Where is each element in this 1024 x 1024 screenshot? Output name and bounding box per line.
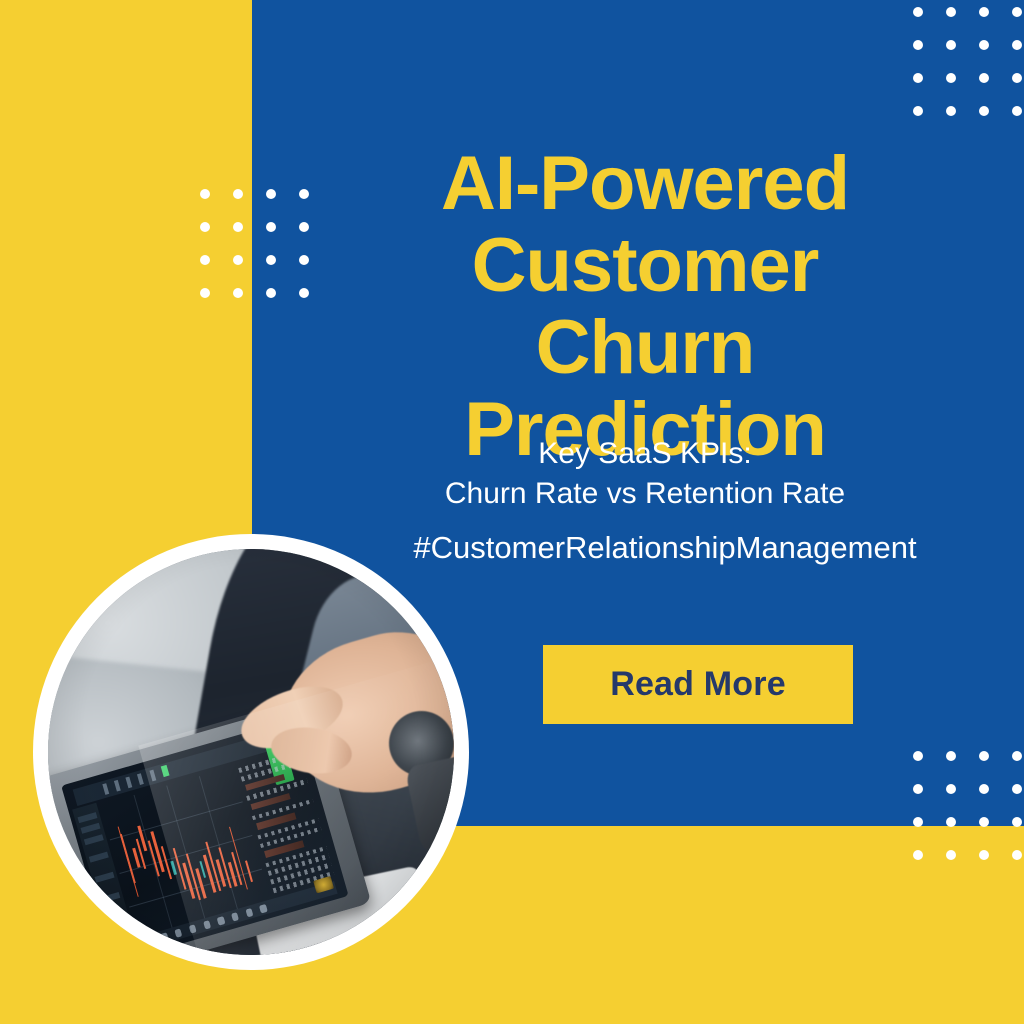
circular-photo-frame — [33, 534, 469, 970]
bottom-right-dot-grid — [913, 751, 1022, 860]
dot — [979, 7, 989, 17]
dot — [1012, 7, 1022, 17]
headline: AI-Powered Customer Churn Prediction — [300, 143, 990, 471]
dot — [913, 7, 923, 17]
dot — [979, 40, 989, 50]
dot — [946, 40, 956, 50]
dot — [979, 784, 989, 794]
read-more-button[interactable]: Read More — [543, 645, 853, 724]
hashtag: #CustomerRelationshipManagement — [300, 528, 1024, 568]
panel-row — [81, 823, 101, 834]
dot — [266, 189, 276, 199]
panel-row — [100, 892, 120, 903]
top-right-dot-grid — [913, 7, 1022, 116]
dot — [913, 751, 923, 761]
dot — [979, 73, 989, 83]
panel-row — [95, 872, 115, 883]
dot — [233, 189, 243, 199]
dot — [1012, 40, 1022, 50]
social-media-graphic: AI-Powered Customer Churn Prediction Key… — [0, 0, 1024, 1024]
panel-row — [84, 834, 104, 845]
dot — [979, 751, 989, 761]
dot — [266, 255, 276, 265]
dot — [979, 817, 989, 827]
subtitle: Key SaaS KPIs: Churn Rate vs Retention R… — [300, 434, 990, 514]
dot — [913, 106, 923, 116]
dot — [200, 255, 210, 265]
dot — [946, 817, 956, 827]
dot — [233, 288, 243, 298]
subtitle-line-2: Churn Rate vs Retention Rate — [300, 474, 990, 514]
dot — [1012, 850, 1022, 860]
dot — [1012, 73, 1022, 83]
left-dot-grid — [200, 189, 309, 298]
headline-line-3: Churn — [300, 307, 990, 389]
dot — [946, 850, 956, 860]
dot — [1012, 784, 1022, 794]
dot — [266, 288, 276, 298]
dot — [913, 40, 923, 50]
dot — [233, 222, 243, 232]
dot — [946, 7, 956, 17]
circular-photo — [48, 549, 454, 955]
panel-row — [106, 912, 126, 923]
dot — [266, 222, 276, 232]
dot — [979, 850, 989, 860]
headline-line-2: Customer — [300, 225, 990, 307]
dot — [233, 255, 243, 265]
dot — [946, 751, 956, 761]
dot — [946, 784, 956, 794]
dot — [200, 222, 210, 232]
subtitle-line-1: Key SaaS KPIs: — [300, 434, 990, 474]
dot — [913, 817, 923, 827]
dot — [1012, 106, 1022, 116]
dot — [200, 189, 210, 199]
dot — [913, 784, 923, 794]
dot — [913, 850, 923, 860]
panel-row — [77, 812, 97, 823]
dot — [946, 73, 956, 83]
dot — [979, 106, 989, 116]
dot — [200, 288, 210, 298]
panel-row — [89, 852, 109, 863]
dot — [1012, 817, 1022, 827]
dot — [1012, 751, 1022, 761]
dot — [913, 73, 923, 83]
dot — [946, 106, 956, 116]
headline-line-1: AI-Powered — [300, 143, 990, 225]
